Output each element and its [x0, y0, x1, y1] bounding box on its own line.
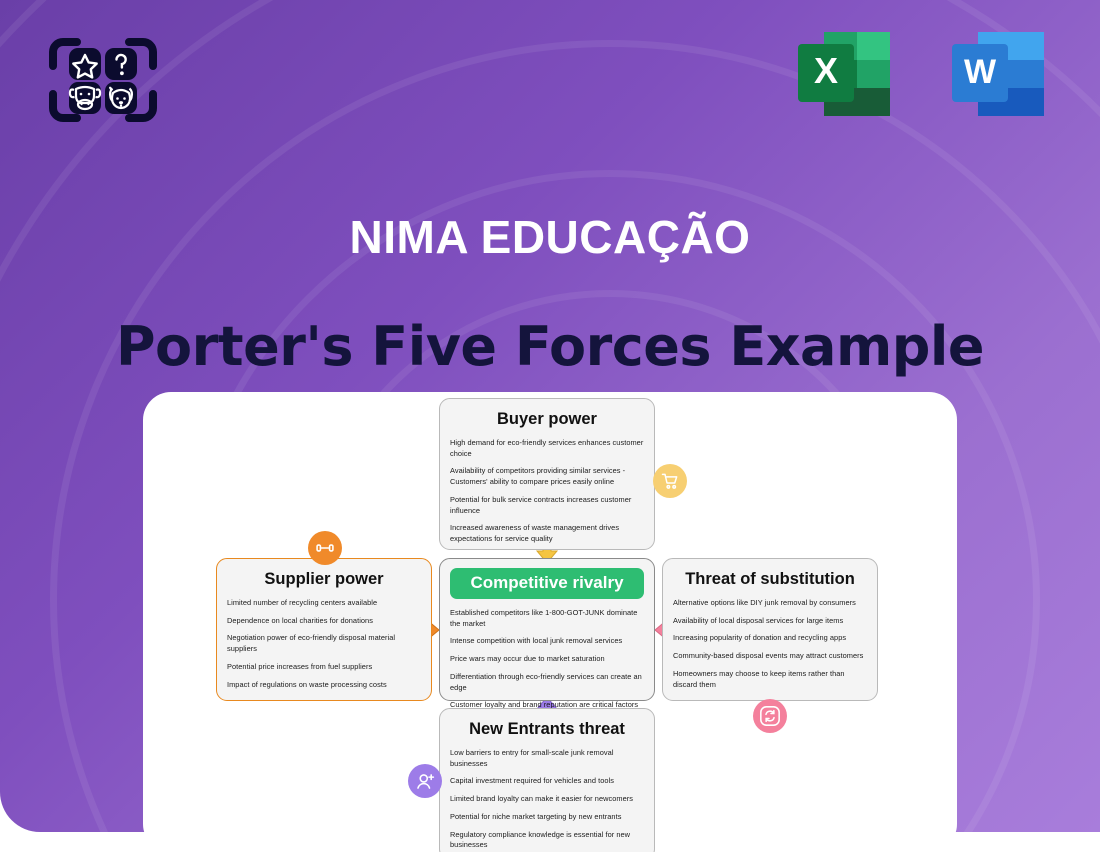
force-title: Threat of substitution — [673, 570, 867, 589]
force-item-list: Low barriers to entry for small-scale ju… — [450, 748, 644, 851]
list-item: Increasing popularity of donation and re… — [673, 633, 867, 644]
excel-icon: X — [792, 26, 896, 126]
office-icons-group: X W — [792, 26, 1050, 126]
list-item: Potential price increases from fuel supp… — [227, 662, 421, 673]
list-item: Limited number of recycling centers avai… — [227, 598, 421, 609]
nima-educacao-logo — [47, 30, 159, 130]
list-item: Availability of competitors providing si… — [450, 466, 644, 487]
force-box-threat-of-substitution[interactable]: Threat of substitution Alternative optio… — [662, 558, 878, 701]
list-item: Established competitors like 1-800-GOT-J… — [450, 608, 644, 629]
add-user-badge[interactable] — [408, 764, 442, 798]
force-box-buyer-power[interactable]: Buyer power High demand for eco-friendly… — [439, 398, 655, 550]
list-item: Regulatory compliance knowledge is essen… — [450, 830, 644, 851]
word-icon: W — [946, 26, 1050, 126]
force-box-supplier-power[interactable]: Supplier power Limited number of recycli… — [216, 558, 432, 701]
force-title: Competitive rivalry — [450, 568, 644, 599]
list-item: Price wars may occur due to market satur… — [450, 654, 644, 665]
list-item: Low barriers to entry for small-scale ju… — [450, 748, 644, 769]
list-item: Homeowners may choose to keep items rath… — [673, 669, 867, 690]
list-item: Community-based disposal events may attr… — [673, 651, 867, 662]
force-title: Buyer power — [450, 410, 644, 429]
list-item: High demand for eco-friendly services en… — [450, 438, 644, 459]
shopping-cart-badge[interactable] — [653, 464, 687, 498]
list-item: Limited brand loyalty can make it easier… — [450, 794, 644, 805]
list-item: Intense competition with local junk remo… — [450, 636, 644, 647]
dumbbell-badge[interactable] — [308, 531, 342, 565]
add-user-icon — [415, 771, 436, 792]
list-item: Increased awareness of waste management … — [450, 523, 644, 544]
refresh-icon — [759, 705, 781, 727]
force-item-list: Established competitors like 1-800-GOT-J… — [450, 608, 644, 711]
page-title: Porter's Five Forces Example — [0, 315, 1100, 378]
list-item: Availability of local disposal services … — [673, 616, 867, 627]
force-item-list: Limited number of recycling centers avai… — [227, 598, 421, 690]
force-item-list: Alternative options like DIY junk remova… — [673, 598, 867, 690]
dumbbell-icon — [315, 538, 335, 558]
refresh-badge[interactable] — [753, 699, 787, 733]
list-item: Dependence on local charities for donati… — [227, 616, 421, 627]
svg-text:X: X — [814, 50, 838, 91]
force-box-new-entrants-threat[interactable]: New Entrants threat Low barriers to entr… — [439, 708, 655, 852]
force-box-competitive-rivalry[interactable]: Competitive rivalry Established competit… — [439, 558, 655, 701]
list-item: Potential for bulk service contracts inc… — [450, 495, 644, 516]
diagram-canvas: Buyer power High demand for eco-friendly… — [143, 392, 957, 852]
list-item: Negotiation power of eco-friendly dispos… — [227, 633, 421, 654]
list-item: Potential for niche market targeting by … — [450, 812, 644, 823]
force-title: Supplier power — [227, 570, 421, 589]
list-item: Impact of regulations on waste processin… — [227, 680, 421, 691]
list-item: Differentiation through eco-friendly ser… — [450, 672, 644, 693]
force-item-list: High demand for eco-friendly services en… — [450, 438, 644, 545]
list-item: Capital investment required for vehicles… — [450, 776, 644, 787]
svg-text:W: W — [964, 53, 997, 91]
force-title: New Entrants threat — [450, 720, 644, 739]
shopping-cart-icon — [660, 471, 680, 491]
brand-title: NIMA EDUCAÇÃO — [0, 210, 1100, 264]
list-item: Alternative options like DIY junk remova… — [673, 598, 867, 609]
